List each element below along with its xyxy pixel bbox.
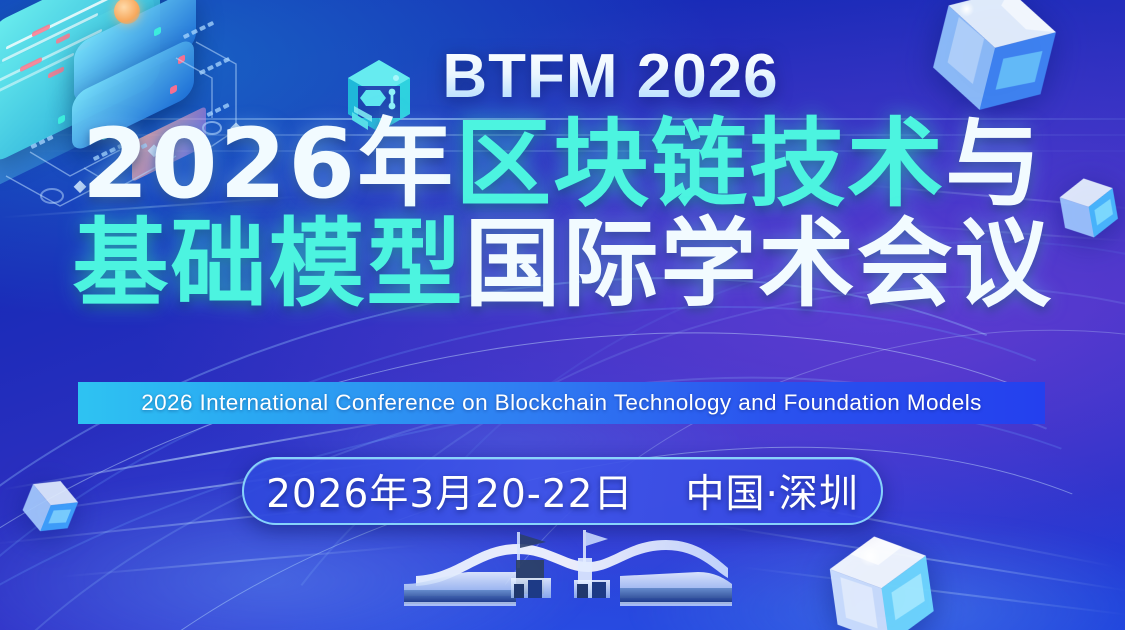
crystal-cube-bottom-right bbox=[818, 527, 945, 630]
english-subtitle: 2026 International Conference on Blockch… bbox=[141, 390, 982, 416]
headline-seg-and: 与 bbox=[945, 108, 1043, 220]
conference-banner: BTFM 2026 2026年区块链技术与 基础模型国际学术会议 2026 In… bbox=[0, 0, 1125, 630]
conference-date: 2026年3月20-22日 bbox=[266, 463, 633, 519]
english-subtitle-bar: 2026 International Conference on Blockch… bbox=[78, 382, 1045, 424]
headline-line-1: 2026年区块链技术与 bbox=[0, 116, 1125, 214]
headline-seg-blockchain: 区块链技术 bbox=[455, 108, 945, 220]
headline-seg-foundation-model: 基础模型 bbox=[73, 208, 465, 320]
headline-line-2: 基础模型国际学术会议 bbox=[0, 216, 1125, 314]
headline-seg-conference: 国际学术会议 bbox=[465, 208, 1053, 320]
headline-block: BTFM 2026 2026年区块链技术与 基础模型国际学术会议 bbox=[0, 46, 1125, 314]
date-location-pill: 2026年3月20-22日 中国·深圳 bbox=[242, 457, 883, 525]
brand-title: BTFM 2026 bbox=[346, 46, 778, 108]
shenzhen-convention-center-silhouette bbox=[398, 528, 738, 628]
headline-seg-year: 2026年 bbox=[82, 108, 455, 220]
conference-location: 中国·深圳 bbox=[685, 463, 858, 519]
